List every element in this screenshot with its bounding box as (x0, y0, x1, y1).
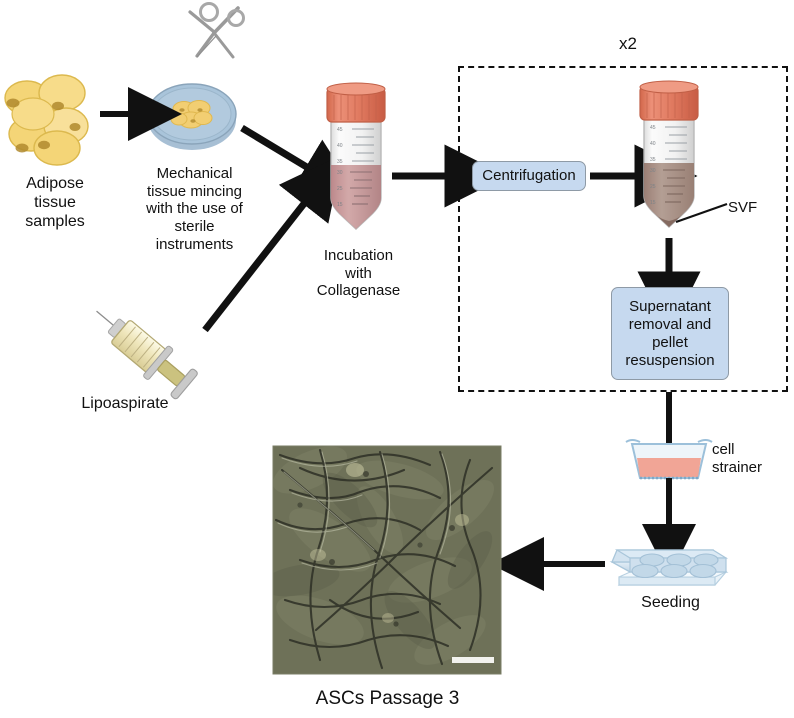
six-well-plate-icon (612, 550, 726, 585)
mincing-line-1: Mechanical (122, 165, 267, 183)
supernatant-step-box[interactable]: Supernatant removal and pellet resuspens… (611, 287, 729, 380)
centrifugation-step-box[interactable]: Centrifugation (472, 161, 586, 191)
svf-label: SVF (728, 199, 782, 217)
incubation-line-3: Collagenase (296, 282, 421, 300)
incubation-line-1: Incubation (296, 247, 421, 265)
centrifugation-label: Centrifugation (482, 167, 575, 185)
mincing-line-3: with the use of (122, 200, 267, 218)
svg-text:15: 15 (337, 202, 343, 208)
cell-strainer-label: cell strainer (712, 441, 792, 476)
scale-bar (452, 657, 494, 663)
supernatant-line-3: pellet (652, 334, 688, 352)
petri-dish-icon (148, 84, 236, 150)
svg-text:25: 25 (337, 186, 343, 192)
strainer-line-1: cell (712, 441, 792, 459)
lipoaspirate-label: Lipoaspirate (40, 395, 210, 414)
scissors-icon (190, 4, 244, 58)
svg-text:45: 45 (337, 127, 343, 133)
mincing-line-2: tissue mincing (122, 183, 267, 201)
mincing-label: Mechanical tissue mincing with the use o… (122, 165, 267, 253)
mincing-line-4: sterile (122, 218, 267, 236)
incubation-line-2: with (296, 265, 421, 283)
adipose-line-3: samples (0, 213, 110, 232)
adipose-samples-label: Adipose tissue samples (0, 175, 110, 232)
seeding-label: Seeding (613, 594, 728, 613)
incubation-label: Incubation with Collagenase (296, 247, 421, 300)
syringe-icon (84, 296, 200, 402)
supernatant-line-1: Supernatant (629, 298, 711, 316)
phase-contrast-micrograph (258, 437, 503, 675)
svg-text:30: 30 (337, 170, 343, 176)
result-caption: ASCs Passage 3 (275, 688, 500, 710)
adipose-line-1: Adipose (0, 175, 110, 194)
centrifuge-tube-incubation-icon: 4540 3530 2515 (327, 83, 385, 229)
repeat-count-label: x2 (598, 34, 658, 54)
strainer-line-2: strainer (712, 459, 792, 477)
adipose-line-2: tissue (0, 194, 110, 213)
diagram-canvas: 4540 3530 2515 (0, 0, 794, 718)
svg-text:40: 40 (337, 143, 343, 149)
supernatant-line-4: resuspension (625, 352, 714, 370)
cell-strainer-icon (626, 440, 712, 478)
adipose-cells-icon (5, 75, 88, 165)
svg-text:35: 35 (337, 159, 343, 165)
mincing-line-5: instruments (122, 236, 267, 254)
supernatant-line-2: removal and (629, 316, 712, 334)
